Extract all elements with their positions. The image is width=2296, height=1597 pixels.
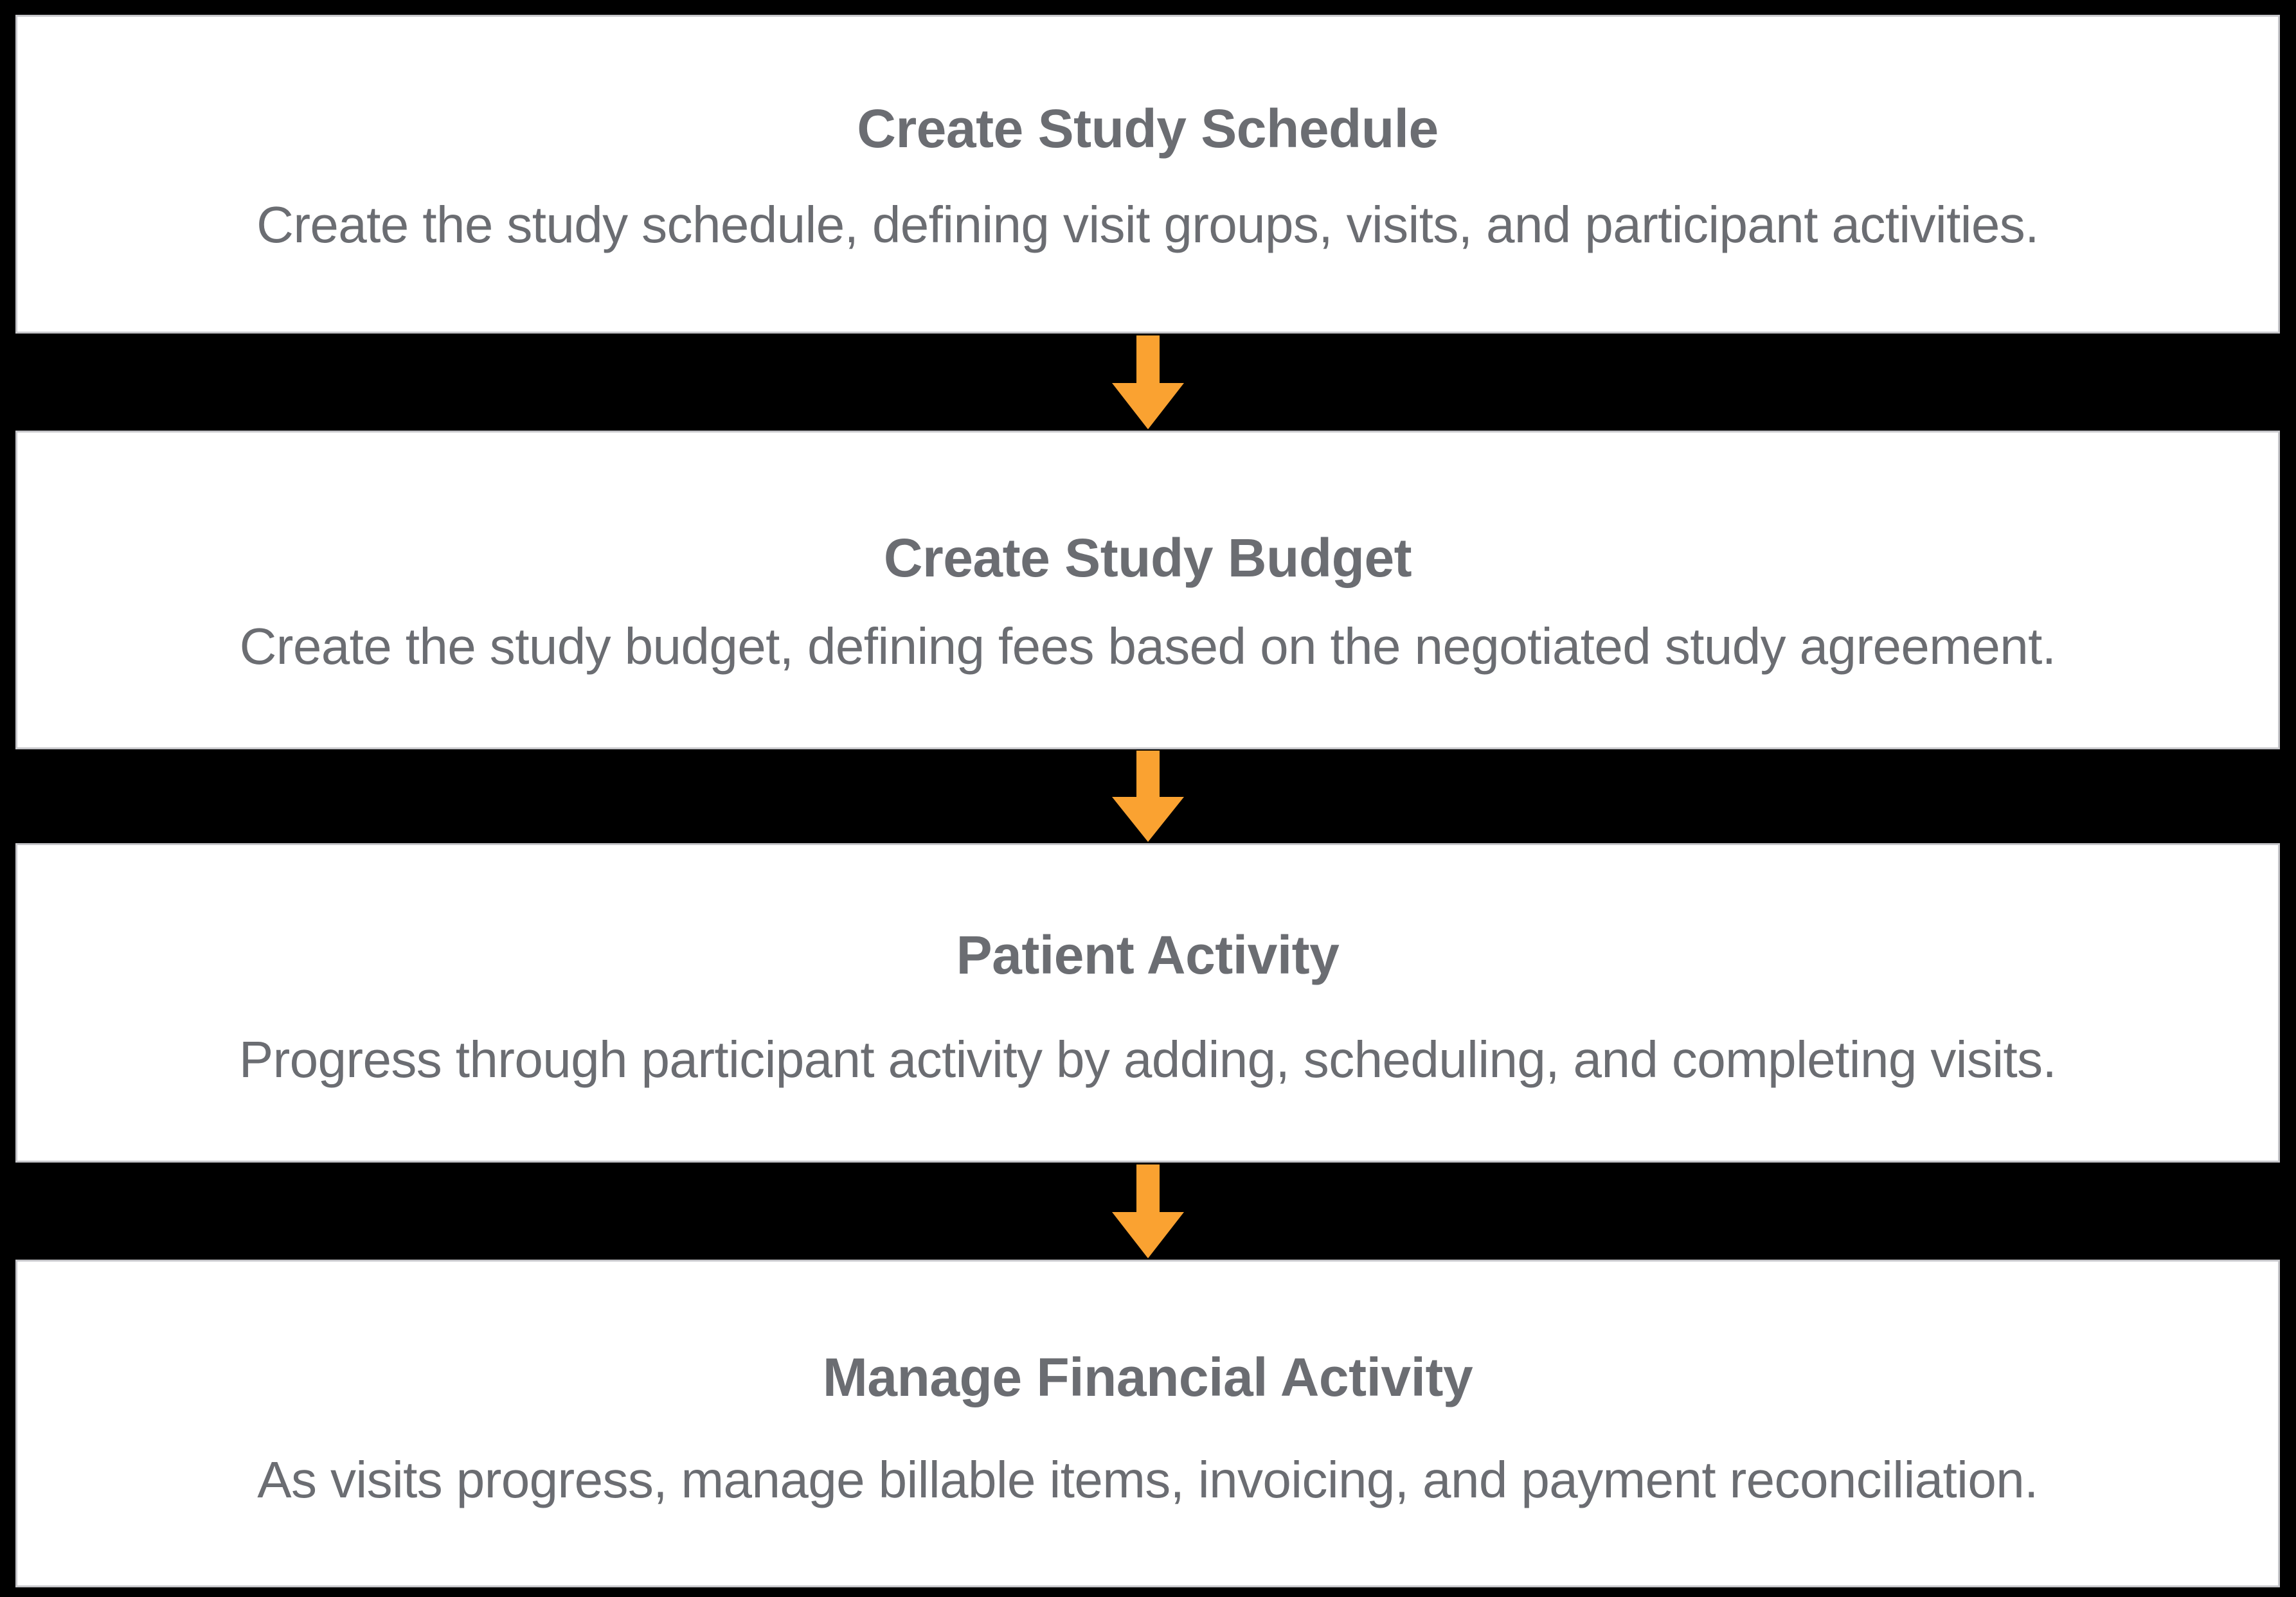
flow-step-create-study-schedule: Create Study Schedule Create the study s…: [15, 15, 2280, 334]
arrow-down-icon: [1112, 751, 1184, 842]
flow-step-description: As visits progress, manage billable item…: [257, 1452, 2038, 1508]
flow-step-create-study-budget: Create Study Budget Create the study bud…: [15, 431, 2280, 749]
flow-step-title: Create Study Budget: [884, 530, 1412, 586]
flow-step-patient-activity: Patient Activity Progress through partic…: [15, 843, 2280, 1163]
flow-step-title: Manage Financial Activity: [823, 1349, 1473, 1405]
flow-step-description: Create the study budget, defining fees b…: [240, 618, 2056, 675]
flow-step-manage-financial-activity: Manage Financial Activity As visits prog…: [15, 1260, 2280, 1587]
arrow-down-icon: [1112, 1164, 1184, 1258]
flow-step-title: Create Study Schedule: [857, 100, 1438, 157]
flow-step-description: Create the study schedule, defining visi…: [256, 197, 2039, 253]
flow-step-description: Progress through participant activity by…: [239, 1031, 2056, 1088]
arrow-down-icon: [1112, 335, 1184, 429]
flowchart-diagram: Create Study Schedule Create the study s…: [0, 0, 2296, 1597]
flow-step-title: Patient Activity: [956, 927, 1340, 983]
